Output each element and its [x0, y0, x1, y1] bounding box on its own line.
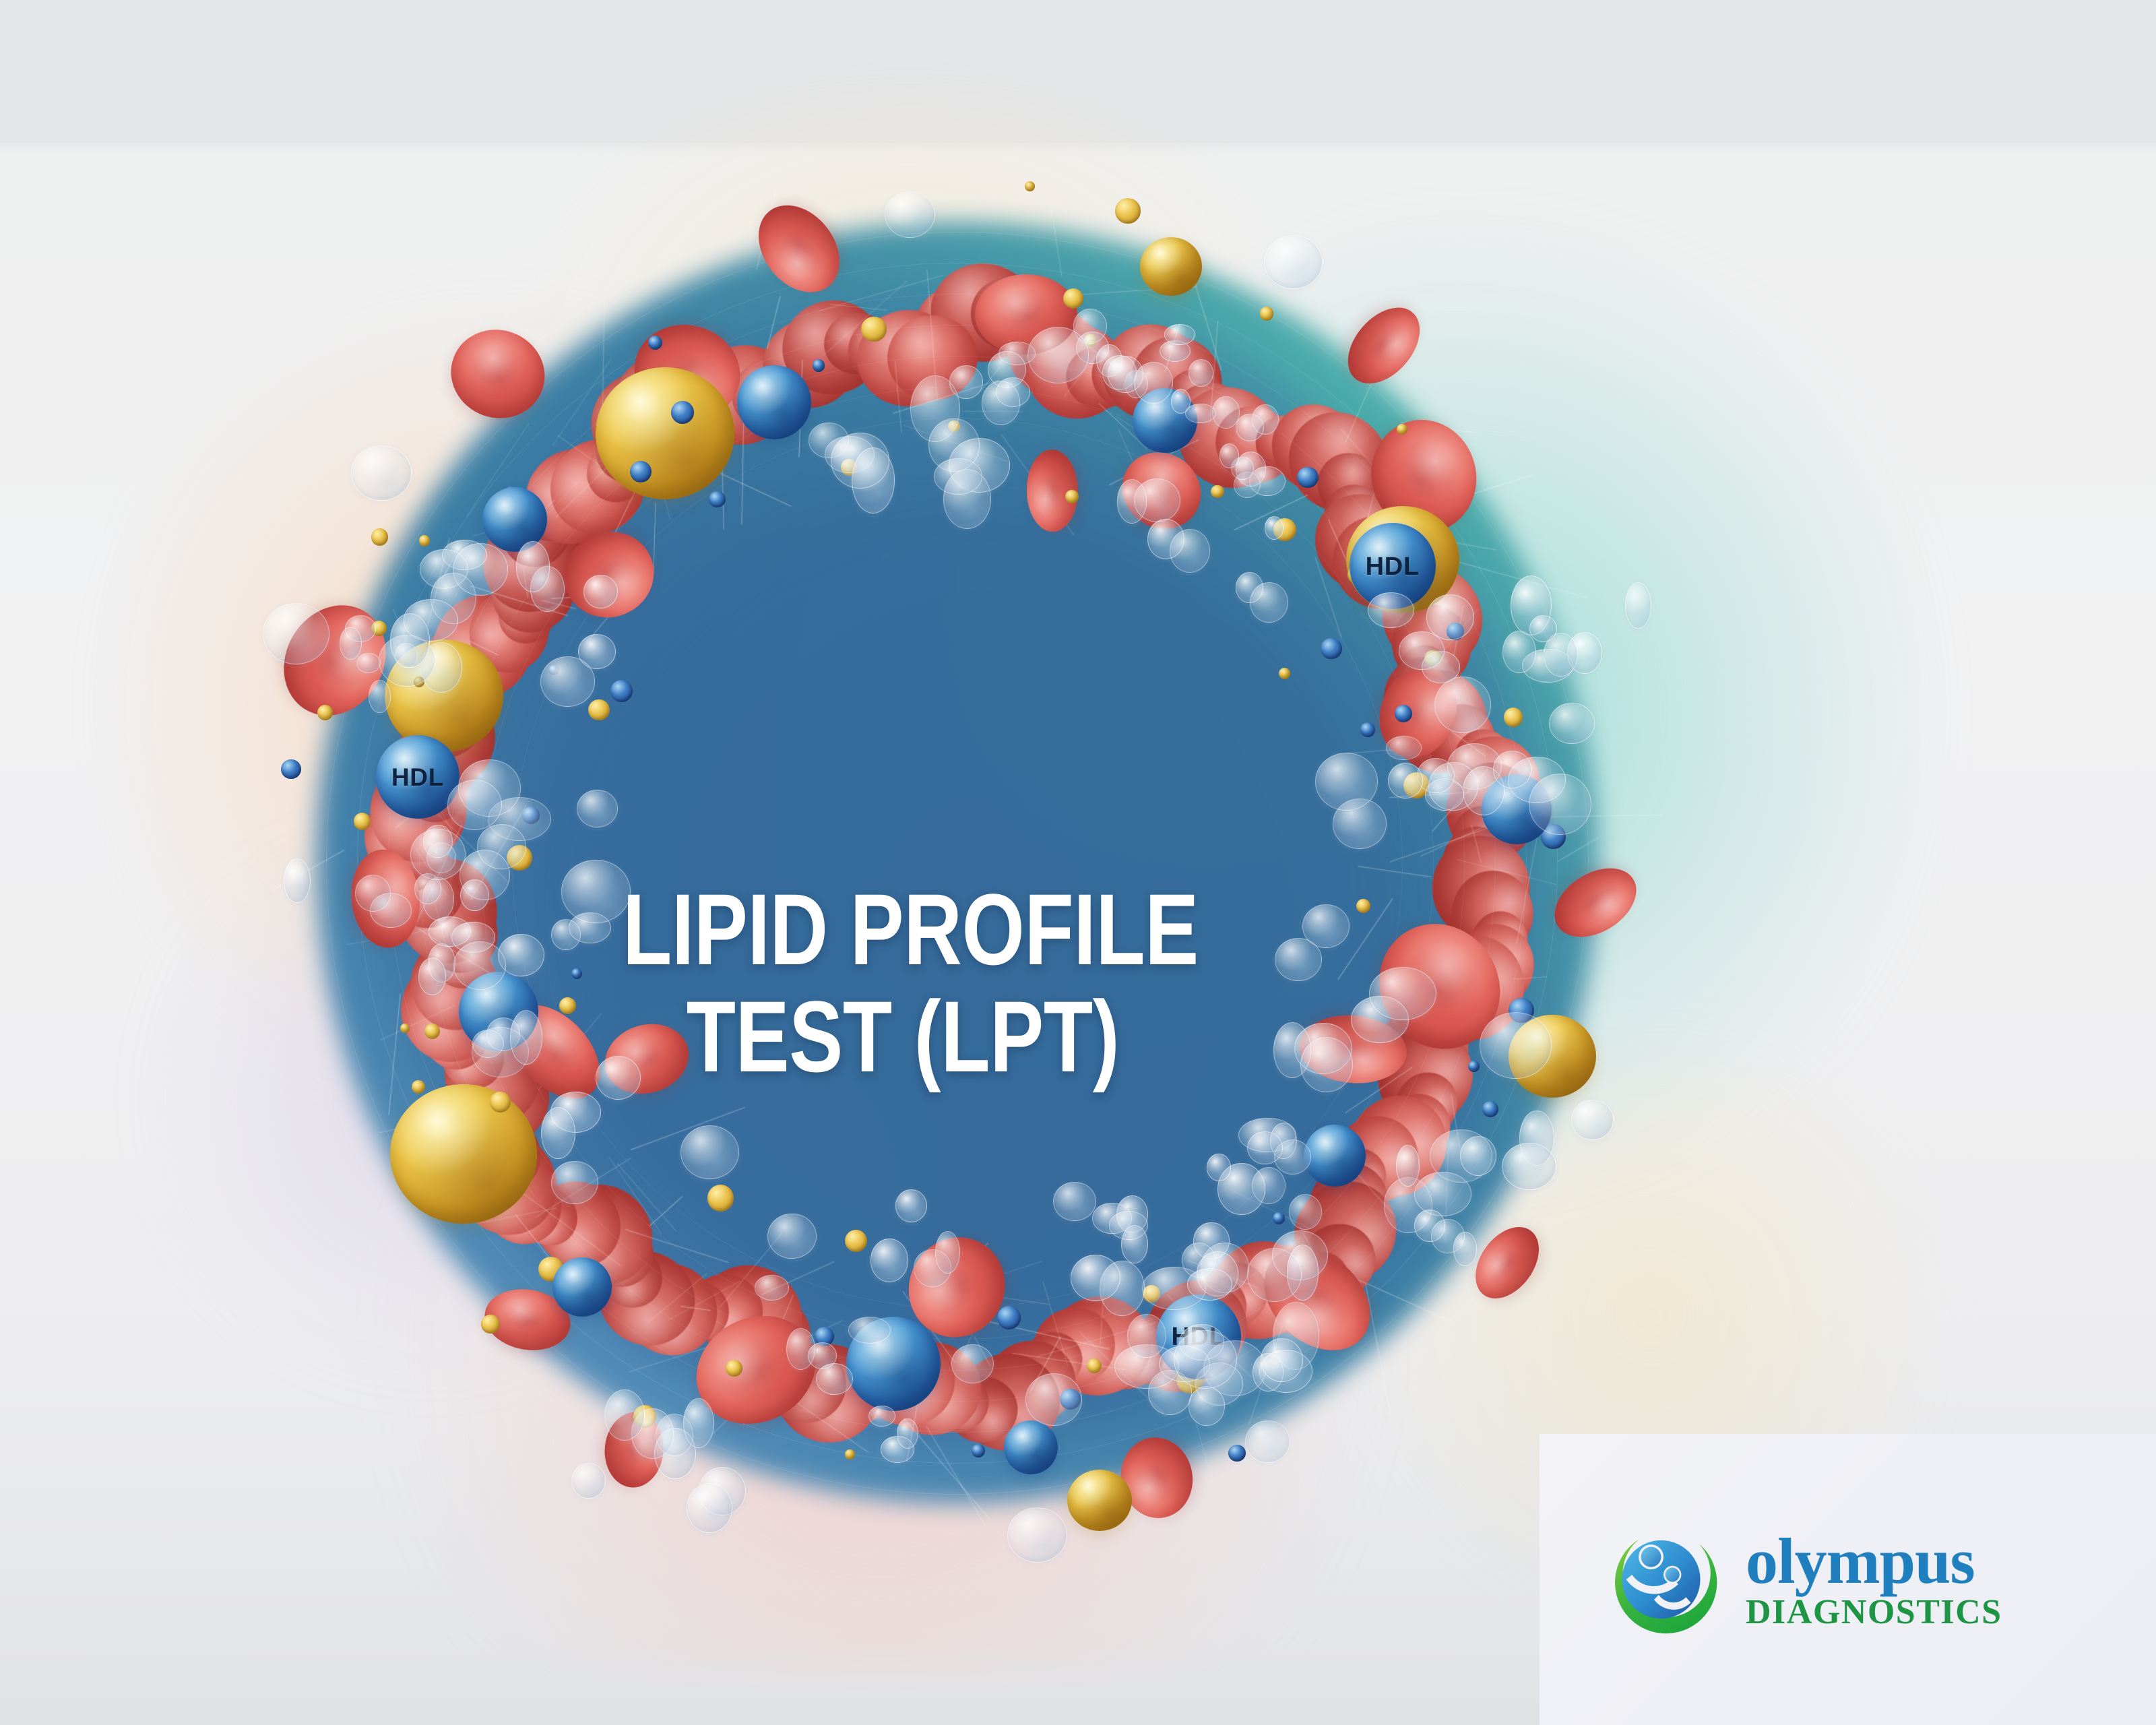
banner-canvas: HDLHDLHDL LIPID PROFILE TEST (LPT)	[0, 0, 2156, 1725]
brand-tagline: DIAGNOSTICS	[1746, 1595, 2002, 1630]
molecule-bubble	[1170, 529, 1210, 573]
molecule-bubble	[1252, 404, 1279, 435]
molecule-bubble	[1109, 1211, 1147, 1240]
molecule-bubble	[870, 1238, 908, 1282]
brand-name: olympus	[1746, 1529, 2002, 1594]
molecule-bubble-large	[885, 191, 935, 238]
molecule-bubble	[571, 1463, 606, 1499]
molecule-bubble	[1396, 1145, 1420, 1187]
cholesterol-globule	[596, 367, 734, 499]
molecule-bubble	[1388, 763, 1423, 798]
molecule-bubble	[949, 365, 983, 400]
hdl-lipoprotein-sphere	[552, 1257, 612, 1317]
molecule-bubble	[1625, 582, 1651, 629]
gold-bead	[1115, 198, 1140, 223]
gold-bead	[588, 699, 610, 721]
molecule-bubble	[1188, 1386, 1224, 1426]
molecule-bubble-large	[351, 445, 412, 501]
gold-bead	[281, 759, 301, 780]
molecule-bubble	[1502, 1143, 1556, 1190]
molecule-bubble	[1399, 631, 1444, 670]
molecule-bubble-large	[410, 829, 466, 880]
molecule-bubble	[453, 543, 508, 596]
molecule-bubble	[934, 458, 982, 495]
molecule-bubble	[459, 850, 509, 900]
gold-bead	[707, 1185, 734, 1212]
molecule-bubble	[1502, 631, 1536, 673]
molecule-bubble	[1252, 1167, 1286, 1204]
molecule-bubble	[895, 1189, 927, 1222]
molecule-bubble	[516, 541, 550, 592]
molecule-bubble	[1369, 967, 1436, 1020]
molecule-bubble	[1245, 1420, 1290, 1463]
molecule-bubble	[897, 1418, 918, 1449]
molecule-bubble	[1417, 758, 1454, 794]
gold-bead	[1395, 705, 1412, 722]
molecule-bubble	[1426, 594, 1474, 639]
gold-bead	[354, 813, 371, 830]
gold-bead	[1260, 307, 1273, 320]
brand-wordmark: olympus DIAGNOSTICS	[1746, 1529, 2002, 1630]
molecule-bubble	[583, 575, 618, 608]
cholesterol-globule	[390, 1084, 537, 1224]
molecule-bubble	[1188, 359, 1213, 386]
blue-bead	[1360, 722, 1375, 737]
molecule-bubble	[541, 1107, 575, 1159]
blue-bead	[1211, 485, 1224, 498]
molecule-bubble	[1265, 516, 1283, 540]
molecule-bubble	[355, 875, 391, 912]
molecule-bubble	[1247, 1248, 1302, 1302]
hdl-label: HDL	[391, 763, 444, 792]
molecule-bubble-large	[1174, 1330, 1237, 1388]
molecule-bubble-large	[1247, 1131, 1283, 1164]
gold-bead	[419, 535, 431, 546]
molecule-bubble-large	[1264, 235, 1323, 290]
blue-bead	[671, 401, 694, 424]
molecule-bubble	[935, 1231, 959, 1274]
molecule-bubble	[1250, 582, 1288, 623]
molecule-bubble	[687, 1483, 732, 1533]
blue-bead	[1273, 1212, 1285, 1224]
brand-logo-panel[interactable]: olympus DIAGNOSTICS	[1540, 1434, 2156, 1725]
molecule-bubble	[390, 613, 431, 668]
gold-bead	[1504, 708, 1523, 726]
molecule-bubble	[868, 1406, 895, 1427]
blue-bead	[1025, 181, 1035, 191]
molecule-bubble	[1134, 362, 1174, 404]
blue-bead	[317, 705, 333, 720]
molecule-bubble	[1134, 478, 1180, 522]
blue-bead	[1468, 1061, 1480, 1072]
molecule-bubble	[1164, 324, 1196, 345]
molecule-bubble	[604, 1389, 644, 1441]
molecule-bubble-large	[951, 1344, 994, 1383]
molecule-bubble	[369, 680, 390, 713]
gold-bead	[1279, 668, 1290, 679]
molecule-bubble-large	[561, 860, 630, 923]
blue-bead	[997, 1306, 1021, 1329]
gold-bead	[1482, 1101, 1498, 1117]
olympus-logo-icon	[1604, 1520, 1723, 1639]
cholesterol-globule	[1140, 237, 1202, 296]
molecule-bubble-large	[1480, 1012, 1552, 1078]
blue-bead	[1065, 490, 1079, 503]
molecule-bubble-large	[577, 790, 618, 827]
molecule-bubble-large	[1025, 1373, 1082, 1426]
molecule-bubble	[1261, 1338, 1303, 1382]
molecule-bubble	[1289, 1194, 1322, 1230]
gold-bead	[861, 317, 887, 342]
molecule-bubble	[1434, 677, 1491, 733]
molecule-bubble	[982, 381, 1020, 425]
molecule-bubble	[1300, 1037, 1353, 1092]
molecule-bubble	[1187, 1268, 1232, 1300]
molecule-bubble	[1368, 592, 1414, 628]
molecule-bubble	[816, 1363, 854, 1395]
molecule-bubble-large	[453, 941, 506, 990]
molecule-bubble	[284, 858, 311, 902]
blue-bead	[1228, 1445, 1245, 1462]
molecule-bubble-large	[1275, 938, 1321, 981]
red-blood-cell	[1463, 1215, 1552, 1310]
gold-bead	[490, 1092, 511, 1112]
molecule-bubble	[1127, 1314, 1166, 1358]
molecule-bubble	[356, 653, 381, 673]
gold-bead	[559, 997, 576, 1014]
molecule-bubble-large	[1007, 1507, 1067, 1563]
gold-bead	[845, 1449, 855, 1460]
molecule-bubble	[831, 433, 889, 489]
molecule-bubble-large	[551, 1161, 598, 1205]
gold-bead	[845, 1230, 867, 1252]
molecule-bubble-large	[1315, 753, 1378, 811]
molecule-bubble	[1219, 443, 1239, 468]
molecule-bubble-large	[447, 780, 502, 830]
molecule-bubble-large	[263, 603, 329, 665]
gold-bead	[371, 528, 389, 546]
gold-bead	[726, 1360, 742, 1377]
molecule-bubble	[1549, 703, 1595, 743]
cholesterol-globule	[1067, 1470, 1132, 1531]
molecule-bubble	[1460, 1136, 1496, 1176]
hdl-lipoprotein-sphere	[737, 365, 811, 439]
molecule-bubble-large	[680, 1125, 739, 1179]
molecule-bubble	[340, 627, 362, 660]
molecule-bubble-large	[1053, 1182, 1096, 1221]
gold-bead	[1297, 467, 1319, 489]
blue-bead	[648, 336, 662, 350]
molecule-bubble-large	[540, 656, 595, 707]
gold-bead	[813, 359, 825, 372]
molecule-bubble	[1493, 751, 1531, 788]
molecule-bubble	[510, 1010, 542, 1065]
molecule-bubble	[1071, 1255, 1120, 1301]
molecule-bubble	[1571, 1100, 1613, 1140]
hdl-lipoprotein-sphere	[1004, 1420, 1058, 1474]
molecule-bubble-large	[1027, 327, 1089, 383]
molecule-bubble	[1453, 1232, 1477, 1265]
molecule-bubble	[683, 1398, 714, 1448]
blue-bead	[1321, 638, 1341, 659]
hdl-label: HDL	[1366, 553, 1420, 582]
molecule-bubble	[1386, 736, 1422, 760]
gold-bead	[481, 1315, 500, 1334]
hdl-lipoprotein-sphere	[1304, 1125, 1366, 1187]
blue-bead	[709, 491, 726, 508]
blue-bead	[424, 1024, 440, 1039]
molecule-bubble	[1207, 1154, 1231, 1181]
molecule-bubble	[1529, 774, 1591, 835]
molecule-bubble	[848, 1317, 891, 1344]
blue-bead	[1397, 424, 1407, 435]
